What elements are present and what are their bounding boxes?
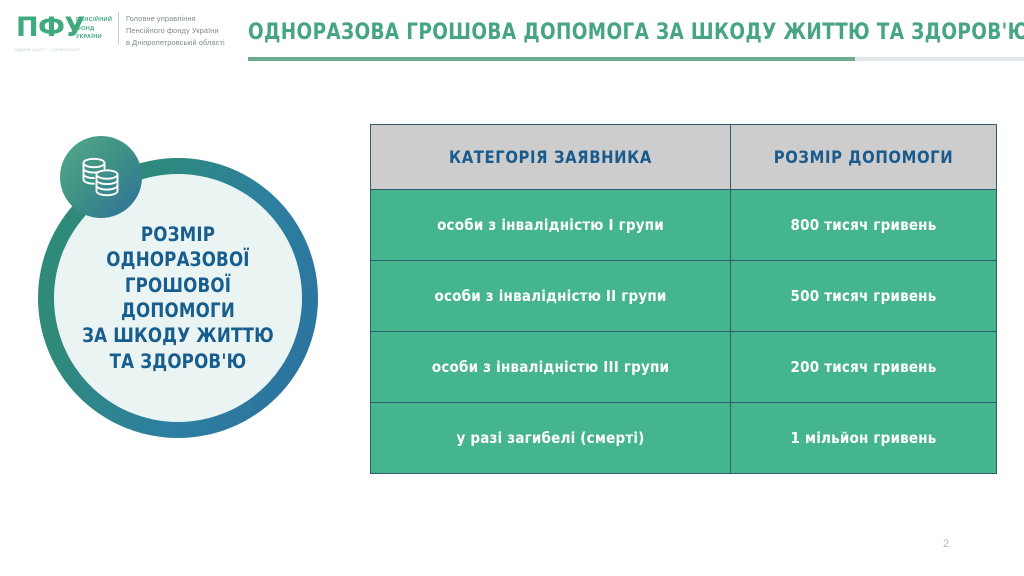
table-cell-amount: 800 тисяч гривень bbox=[731, 190, 997, 261]
pfu-logo: ПФУ пенсійний фонд україни ЄДИНИЙ ЗАХИСТ… bbox=[14, 10, 119, 56]
pfu-logo-mark: ПФУ bbox=[16, 14, 85, 41]
badge-title-line-3: ГРОШОВОЇ ДОПОМОГИ bbox=[68, 273, 288, 324]
badge-title-line-5: ТА ЗДОРОВ'Ю bbox=[68, 349, 288, 374]
table-cell-category: особи з інвалідністю II групи bbox=[371, 261, 731, 332]
organization-name-line-2: Пенсійного фонду України bbox=[126, 25, 225, 37]
table-row: у разі загибелі (смерті) 1 мільйон гриве… bbox=[371, 403, 997, 474]
table-row: особи з інвалідністю I групи 800 тисяч г… bbox=[371, 190, 997, 261]
badge-title-text: РОЗМІР ОДНОРАЗОВОЇ ГРОШОВОЇ ДОПОМОГИ ЗА … bbox=[68, 222, 288, 374]
table-row: особи з інвалідністю II групи 500 тисяч … bbox=[371, 261, 997, 332]
slide-title: ОДНОРАЗОВА ГРОШОВА ДОПОМОГА ЗА ШКОДУ ЖИТ… bbox=[248, 20, 1024, 45]
table-cell-category: у разі загибелі (смерті) bbox=[371, 403, 731, 474]
benefit-amounts-table: КАТЕГОРІЯ ЗАЯВНИКА РОЗМІР ДОПОМОГИ особи… bbox=[370, 124, 997, 474]
pfu-logo-subtitle-line-1: пенсійний bbox=[76, 16, 120, 25]
summary-badge: РОЗМІР ОДНОРАЗОВОЇ ГРОШОВОЇ ДОПОМОГИ ЗА … bbox=[38, 158, 318, 438]
table-cell-category: особи з інвалідністю I групи bbox=[371, 190, 731, 261]
table-header-row: КАТЕГОРІЯ ЗАЯВНИКА РОЗМІР ДОПОМОГИ bbox=[371, 125, 997, 190]
badge-title-line-2: ОДНОРАЗОВОЇ bbox=[68, 247, 288, 272]
badge-title-line-1: РОЗМІР bbox=[68, 222, 288, 247]
table-cell-amount: 200 тисяч гривень bbox=[731, 332, 997, 403]
table-header-amount: РОЗМІР ДОПОМОГИ bbox=[731, 125, 997, 190]
table-cell-amount: 500 тисяч гривень bbox=[731, 261, 997, 332]
slide-header: ПФУ пенсійний фонд україни ЄДИНИЙ ЗАХИСТ… bbox=[0, 0, 1024, 72]
organization-name: Головне управління Пенсійного фонду Укра… bbox=[126, 13, 225, 49]
table-row: особи з інвалідністю III групи 200 тисяч… bbox=[371, 332, 997, 403]
table-header-category: КАТЕГОРІЯ ЗАЯВНИКА bbox=[371, 125, 731, 190]
badge-title-line-4: ЗА ШКОДУ ЖИТТЮ bbox=[68, 323, 288, 348]
pfu-logo-subtitle-line-2: фонд bbox=[76, 25, 120, 34]
title-underline-rule bbox=[248, 57, 1024, 61]
coins-stack-icon bbox=[60, 136, 142, 218]
table-cell-category: особи з інвалідністю III групи bbox=[371, 332, 731, 403]
pfu-logo-tagline: ЄДИНИЙ ЗАХИСТ — ГІДНИЙ ЗАХИСТ bbox=[15, 48, 119, 52]
organization-name-line-1: Головне управління bbox=[126, 13, 225, 25]
organization-name-line-3: в Дніпропетровській області bbox=[126, 37, 225, 49]
header-vertical-divider bbox=[118, 12, 119, 45]
pfu-logo-subtitle-line-3: україни bbox=[76, 33, 120, 42]
title-underline-rule-fill bbox=[248, 57, 855, 61]
pfu-logo-subtitle: пенсійний фонд україни bbox=[76, 16, 120, 42]
table-cell-amount: 1 мільйон гривень bbox=[731, 403, 997, 474]
page-number: 2 bbox=[936, 538, 956, 550]
